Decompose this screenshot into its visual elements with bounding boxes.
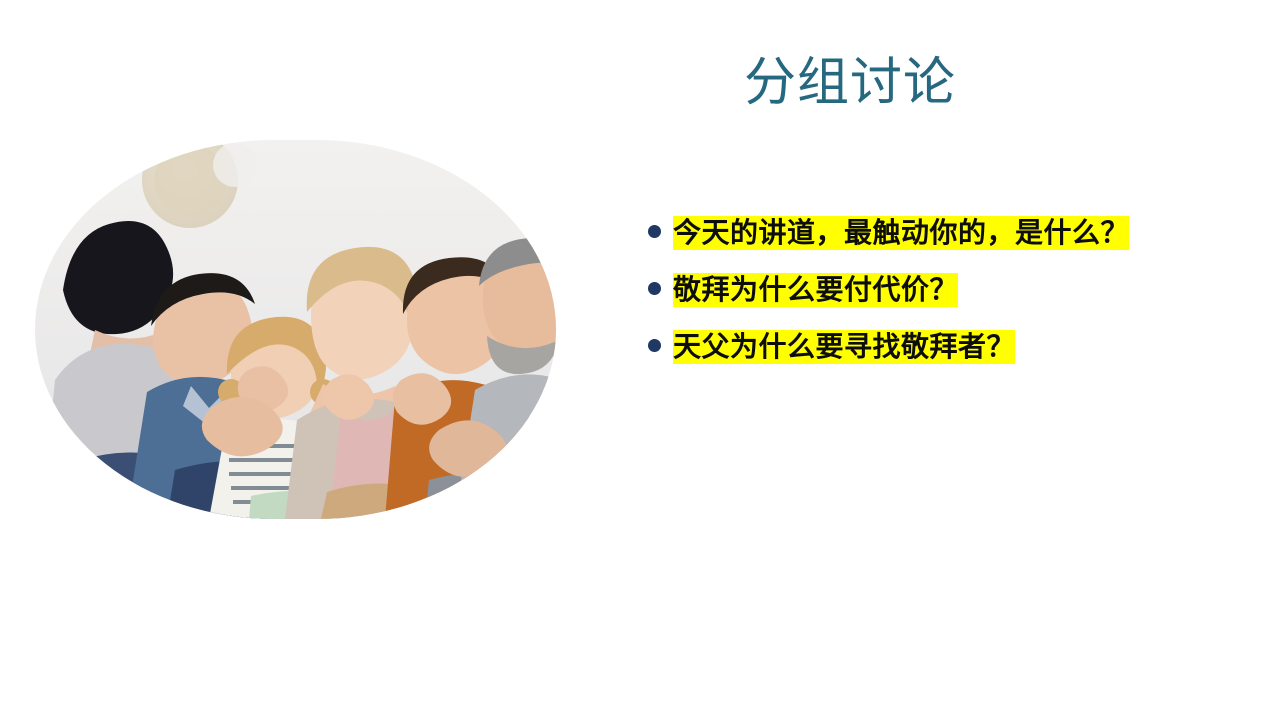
bullet-text: 敬拜为什么要付代价？ xyxy=(673,269,1188,310)
presentation-slide: 分组讨论 xyxy=(0,0,1280,720)
bullet-dot-icon xyxy=(648,225,661,238)
photo-illustration xyxy=(35,140,556,519)
bullet-text: 天父为什么要寻找敬拜者？ xyxy=(673,326,1188,367)
list-item: 天父为什么要寻找敬拜者？ xyxy=(648,326,1188,367)
highlighted-text: 天父为什么要寻找敬拜者？ xyxy=(673,330,1015,364)
list-item: 今天的讲道，最触动你的，是什么？ xyxy=(648,212,1188,253)
discussion-question-list: 今天的讲道，最触动你的，是什么？ 敬拜为什么要付代价？ 天父为什么要寻找敬拜者？ xyxy=(648,212,1188,367)
slide-title: 分组讨论 xyxy=(640,52,1060,114)
list-item: 敬拜为什么要付代价？ xyxy=(648,269,1188,310)
bullet-text: 今天的讲道，最触动你的，是什么？ xyxy=(673,212,1188,253)
highlighted-text: 今天的讲道，最触动你的，是什么？ xyxy=(673,216,1129,250)
highlighted-text: 敬拜为什么要付代价？ xyxy=(673,273,958,307)
bullet-dot-icon xyxy=(648,282,661,295)
group-discussion-photo xyxy=(35,140,556,519)
bullet-dot-icon xyxy=(648,339,661,352)
